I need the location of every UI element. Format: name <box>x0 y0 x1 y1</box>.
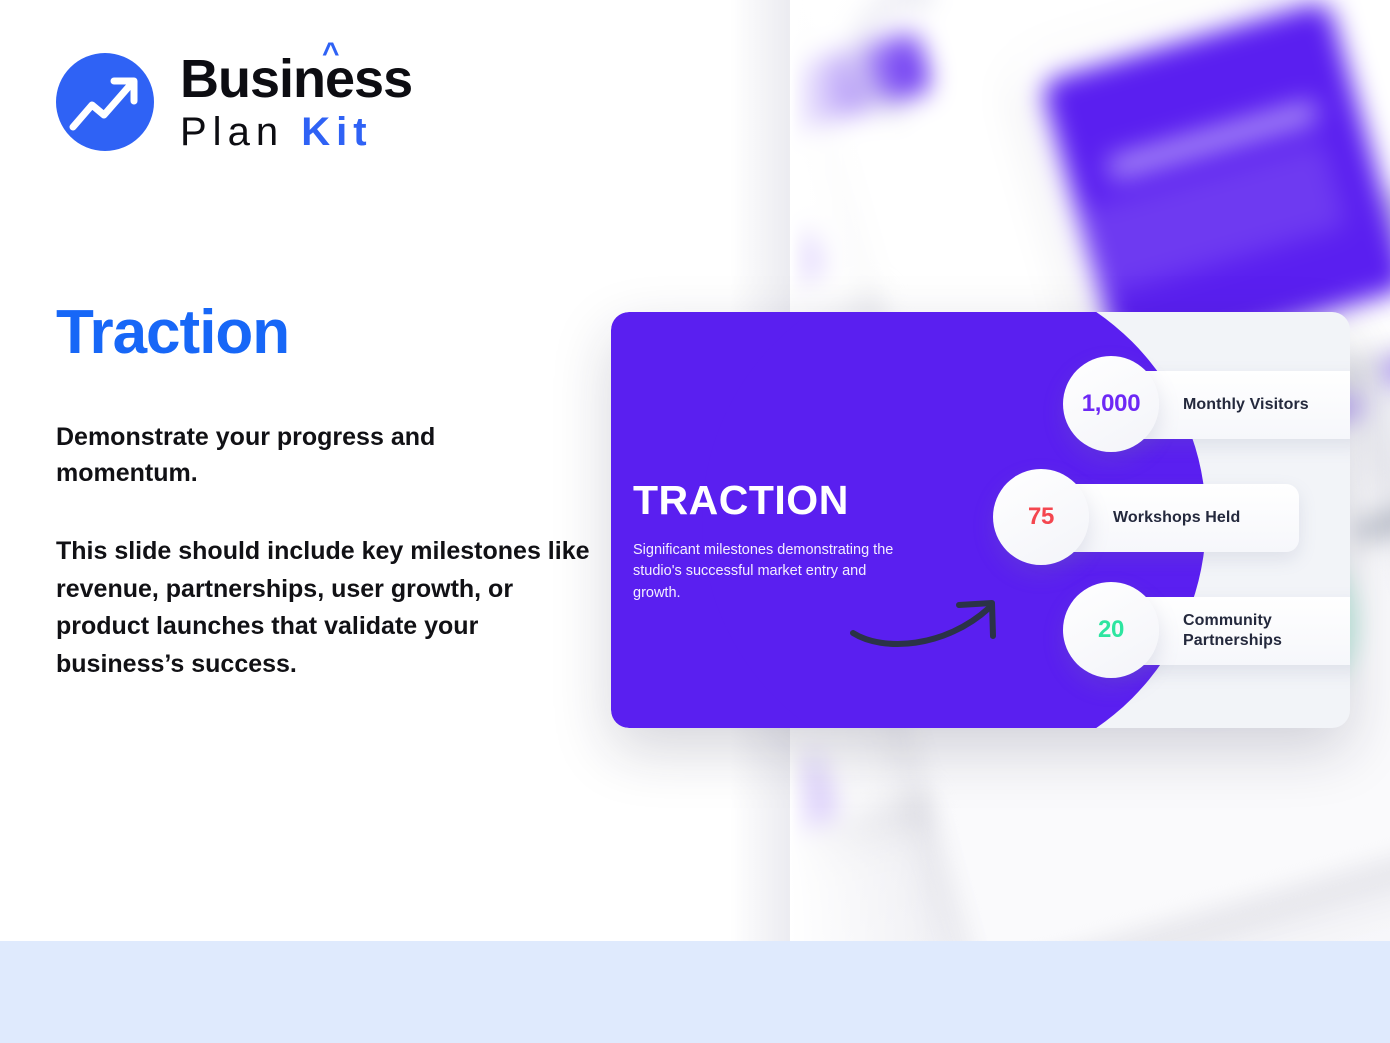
page-title: Traction <box>56 297 289 368</box>
stats-list: Monthly Visitors 1,000 Workshops Held 75… <box>911 312 1350 728</box>
stat-row[interactable]: Monthly Visitors 1,000 <box>1063 356 1159 452</box>
stat-value-circle: 75 <box>993 469 1089 565</box>
brand-name-line2: Plan Kit <box>180 112 412 152</box>
stat-value-circle: 20 <box>1063 582 1159 678</box>
trend-arrow-circle-icon <box>56 53 154 151</box>
brand-circumflex-accent: ^ <box>322 39 339 69</box>
traction-preview-card[interactable]: TRACTION Significant milestones demonstr… <box>611 312 1350 728</box>
stat-value: 1,000 <box>1082 390 1141 418</box>
stat-value-circle: 1,000 <box>1063 356 1159 452</box>
footer-band <box>0 941 1390 1043</box>
body-paragraph: This slide should include key milestones… <box>56 533 596 683</box>
stat-value: 75 <box>1028 503 1054 531</box>
brand-logo[interactable]: Business ^ Plan Kit <box>56 52 412 152</box>
brand-name-plan: Plan <box>180 110 284 154</box>
brand-name-kit: Kit <box>301 110 372 154</box>
lede-paragraph: Demonstrate your progress and momentum. <box>56 420 576 491</box>
brand-name-line1: Business ^ <box>180 52 412 106</box>
brand-name-business: Business <box>180 49 412 109</box>
background-dot <box>1385 355 1390 385</box>
stat-value: 20 <box>1098 616 1124 644</box>
stat-row[interactable]: Workshops Held 75 <box>993 469 1089 565</box>
stat-row[interactable]: Community Partnerships 20 <box>1063 582 1159 678</box>
brand-wordmark: Business ^ Plan Kit <box>180 52 412 152</box>
card-title: TRACTION <box>633 477 849 524</box>
slide-page: Business ^ Plan Kit Traction Demonstrate… <box>0 0 1390 1043</box>
